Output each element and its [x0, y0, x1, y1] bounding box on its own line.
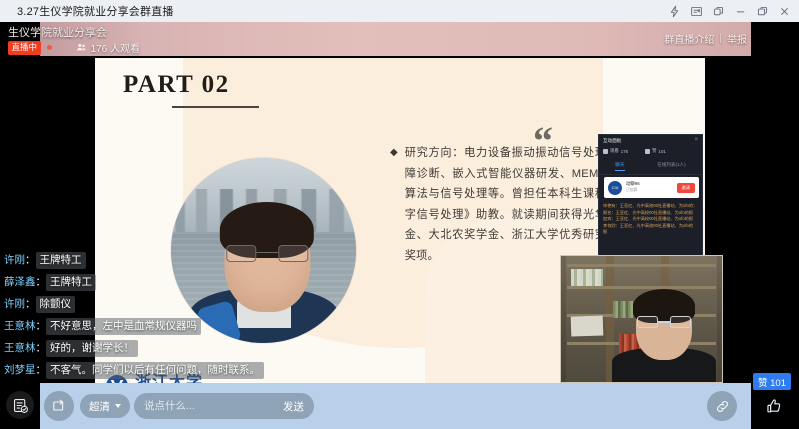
thumbs-up-icon[interactable] [760, 392, 788, 420]
chat-sender-name: 许刚 [4, 297, 25, 311]
chat-sender-name: 刘梦星 [4, 363, 36, 377]
panel-member-card[interactable]: ZJU 动聊96 已加群 邀请 [604, 177, 699, 198]
message-compose-box[interactable]: 发送 [134, 393, 314, 419]
panel-views-value: 176 [621, 149, 628, 154]
webcam-books-row-1 [571, 269, 603, 287]
panel-stats: 观看 176 赞 101 [603, 148, 666, 154]
slide-body-block: ◆ 研究方向：电力设备振动振动信号处理与故障诊断、嵌入式智能仪器研发、MEMS测… [390, 143, 630, 266]
minimize-icon[interactable] [729, 1, 751, 21]
panel-views-label: 观看 [610, 148, 619, 154]
chat-message-text: 好的，谢谢学长！ [46, 340, 138, 357]
people-icon [603, 149, 608, 154]
chat-message: 许刚 ： 王牌特工 [4, 252, 264, 269]
like-count-badge: 赞 101 [753, 373, 791, 390]
chat-colon: ： [25, 253, 36, 267]
thumbs-up-icon [645, 149, 650, 154]
panel-log-line: 报 [603, 229, 701, 236]
chat-message: 刘梦星 ： 不客气。同学们以后有任何问题，随时联系。 [4, 362, 264, 379]
chevron-down-icon [115, 404, 121, 408]
link-separator: | [719, 33, 722, 44]
report-link[interactable]: 举报 [727, 31, 747, 46]
lightning-icon[interactable] [663, 1, 685, 21]
panel-member-name: 动聊96 [626, 181, 640, 188]
chat-sender-name: 薛泽鑫 [4, 275, 36, 289]
panel-views-stat: 观看 176 [603, 148, 628, 154]
quality-selector[interactable]: 超清 [80, 394, 130, 418]
panel-log-line: 李何欣：王亚红、光中高校00社直播站、为ofo的 [603, 223, 701, 230]
chat-message: 王意林 ： 好的，谢谢学长！ [4, 340, 264, 357]
chat-sender-name: 王意林 [4, 341, 36, 355]
chat-colon: ： [36, 275, 47, 289]
slide-part-title: PART 02 [123, 71, 230, 99]
chat-message-text: 除颤仪 [36, 296, 76, 313]
message-input[interactable] [144, 400, 283, 412]
panel-log-line: 加宾：王亚红、光中高校00社直播站、为ofo的报 [603, 216, 701, 223]
live-status-row: 直播中 176 人观看 [8, 40, 140, 55]
chat-sender-name: 许刚 [4, 253, 25, 267]
panel-tab-chat[interactable]: 聊天 [615, 162, 624, 171]
panel-tabs: 聊天 在线列表(1人) [599, 162, 702, 175]
send-button[interactable]: 发送 [283, 399, 304, 414]
webcam-person-glasses [637, 316, 691, 329]
chat-colon: ： [25, 297, 36, 311]
chat-message: 薛泽鑫 ： 王牌特工 [4, 274, 264, 291]
webcam-papers [570, 316, 603, 337]
restore-icon[interactable] [751, 1, 773, 21]
player-bottom-toolbar: 超清 发送 赞 101 [0, 383, 799, 429]
header-letterbox-right [751, 22, 799, 56]
chat-message-text: 王牌特工 [46, 274, 96, 291]
interaction-panel-inset[interactable]: 互动面板 × 观看 176 赞 101 聊天 在线列表(1人) ZJU [598, 134, 703, 261]
live-stream-window: 3.27生仪学院就业分享会群直播 [0, 0, 799, 429]
window-title: 3.27生仪学院就业分享会群直播 [17, 3, 174, 19]
speaker-webcam-video[interactable] [560, 255, 723, 383]
window-titlebar: 3.27生仪学院就业分享会群直播 [0, 0, 799, 22]
copy-icon[interactable] [707, 1, 729, 21]
live-stage: 生仪学院就业分享会 直播中 176 人观看 群直播介绍 | 举报 PART 02 [0, 22, 799, 429]
panel-invite-button[interactable]: 邀请 [677, 183, 695, 193]
chat-colon: ： [36, 319, 47, 333]
live-badge: 直播中 [8, 41, 41, 55]
chat-message-text: 王牌特工 [36, 252, 86, 269]
chat-message: 许刚 ： 除颤仪 [4, 296, 264, 313]
chat-sender-name: 王意林 [4, 319, 36, 333]
room-title: 生仪学院就业分享会 [8, 24, 107, 40]
chat-message-text: 不客气。同学们以后有任何问题，随时联系。 [46, 362, 264, 379]
chat-colon: ： [36, 341, 47, 355]
panel-log-list: 申艳有：王亚红、光中高校00社直播站、为ofo的： 报名：王亚红、光中高校00社… [603, 203, 701, 236]
chat-colon: ： [36, 363, 47, 377]
document-check-icon[interactable] [6, 391, 34, 419]
link-icon[interactable] [707, 391, 737, 421]
chat-overlay: 许刚 ： 王牌特工 薛泽鑫 ： 王牌特工 许刚 ： 除颤仪 王意林 ： 不好意思… [4, 252, 284, 379]
live-indicator-dot [47, 45, 52, 50]
viewer-count: 176 人观看 [76, 40, 140, 55]
window-controls [663, 0, 795, 22]
panel-member-name-block: 动聊96 已加群 [626, 181, 640, 193]
panel-likes-stat: 赞 101 [645, 148, 666, 154]
slide-title-rule [172, 106, 259, 108]
panel-likes-value: 101 [659, 149, 666, 154]
panel-tab-members[interactable]: 在线列表(1人) [657, 162, 686, 171]
header-links: 群直播介绍 | 举报 [664, 31, 747, 46]
panel-member-avatar: ZJU [608, 181, 622, 195]
close-icon[interactable] [773, 1, 795, 21]
quality-label: 超清 [89, 399, 110, 414]
chat-message-text: 不好意思，左中是血常规仪器吗 [46, 318, 201, 335]
panel-title: 互动面板 [603, 138, 621, 144]
slide-body-text: 研究方向：电力设备振动振动信号处理与故障诊断、嵌入式智能仪器研发、MEMS测控算… [405, 143, 630, 266]
bullet-diamond-icon: ◆ [390, 143, 398, 266]
panel-member-sub: 已加群 [626, 188, 640, 194]
screen-share-icon[interactable] [685, 1, 707, 21]
chat-message: 王意林 ： 不好意思，左中是血常规仪器吗 [4, 318, 264, 335]
people-icon [76, 42, 87, 53]
panel-close-icon[interactable]: × [694, 137, 698, 143]
panel-likes-label: 赞 [652, 148, 656, 154]
live-intro-link[interactable]: 群直播介绍 [664, 31, 714, 46]
cast-screen-icon[interactable] [44, 391, 74, 421]
viewer-count-label: 176 人观看 [91, 40, 140, 55]
panel-log-line: 申艳有：王亚红、光中高校00社直播站、为ofo的： [603, 203, 701, 210]
